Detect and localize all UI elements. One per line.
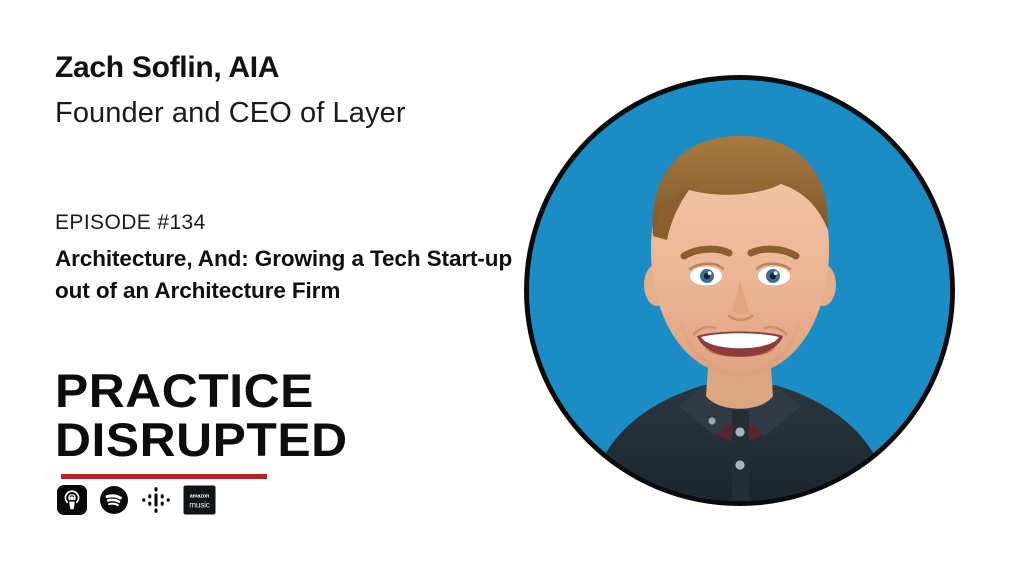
guest-role: Founder and CEO of Layer xyxy=(55,96,406,131)
apple-podcasts-icon[interactable] xyxy=(57,485,87,515)
portrait-image xyxy=(529,80,950,501)
amazon-music-icon[interactable]: amazon music xyxy=(183,485,216,515)
episode-title: Architecture, And: Growing a Tech Start-… xyxy=(55,243,531,307)
show-logo: PRACTICE DISRUPTED xyxy=(55,368,331,479)
spotify-icon[interactable] xyxy=(99,485,129,515)
amazon-music-wordmark-top: amazon xyxy=(190,494,209,500)
show-logo-underline xyxy=(61,474,267,479)
show-logo-line-1: PRACTICE xyxy=(55,368,348,413)
google-podcasts-icon[interactable] xyxy=(141,485,171,515)
episode-number-label: EPISODE #134 xyxy=(55,210,206,235)
amazon-music-wordmark-bottom: music xyxy=(189,500,209,509)
text-column: Zach Soflin, AIA Founder and CEO of Laye… xyxy=(55,0,535,576)
portrait-illustration xyxy=(529,80,950,501)
platform-badges: amazon music xyxy=(57,485,216,515)
show-logo-line-2: DISRUPTED xyxy=(55,417,348,462)
episode-promo-card: Zach Soflin, AIA Founder and CEO of Laye… xyxy=(0,0,1024,576)
guest-name: Zach Soflin, AIA xyxy=(55,51,279,86)
guest-portrait xyxy=(524,75,955,506)
